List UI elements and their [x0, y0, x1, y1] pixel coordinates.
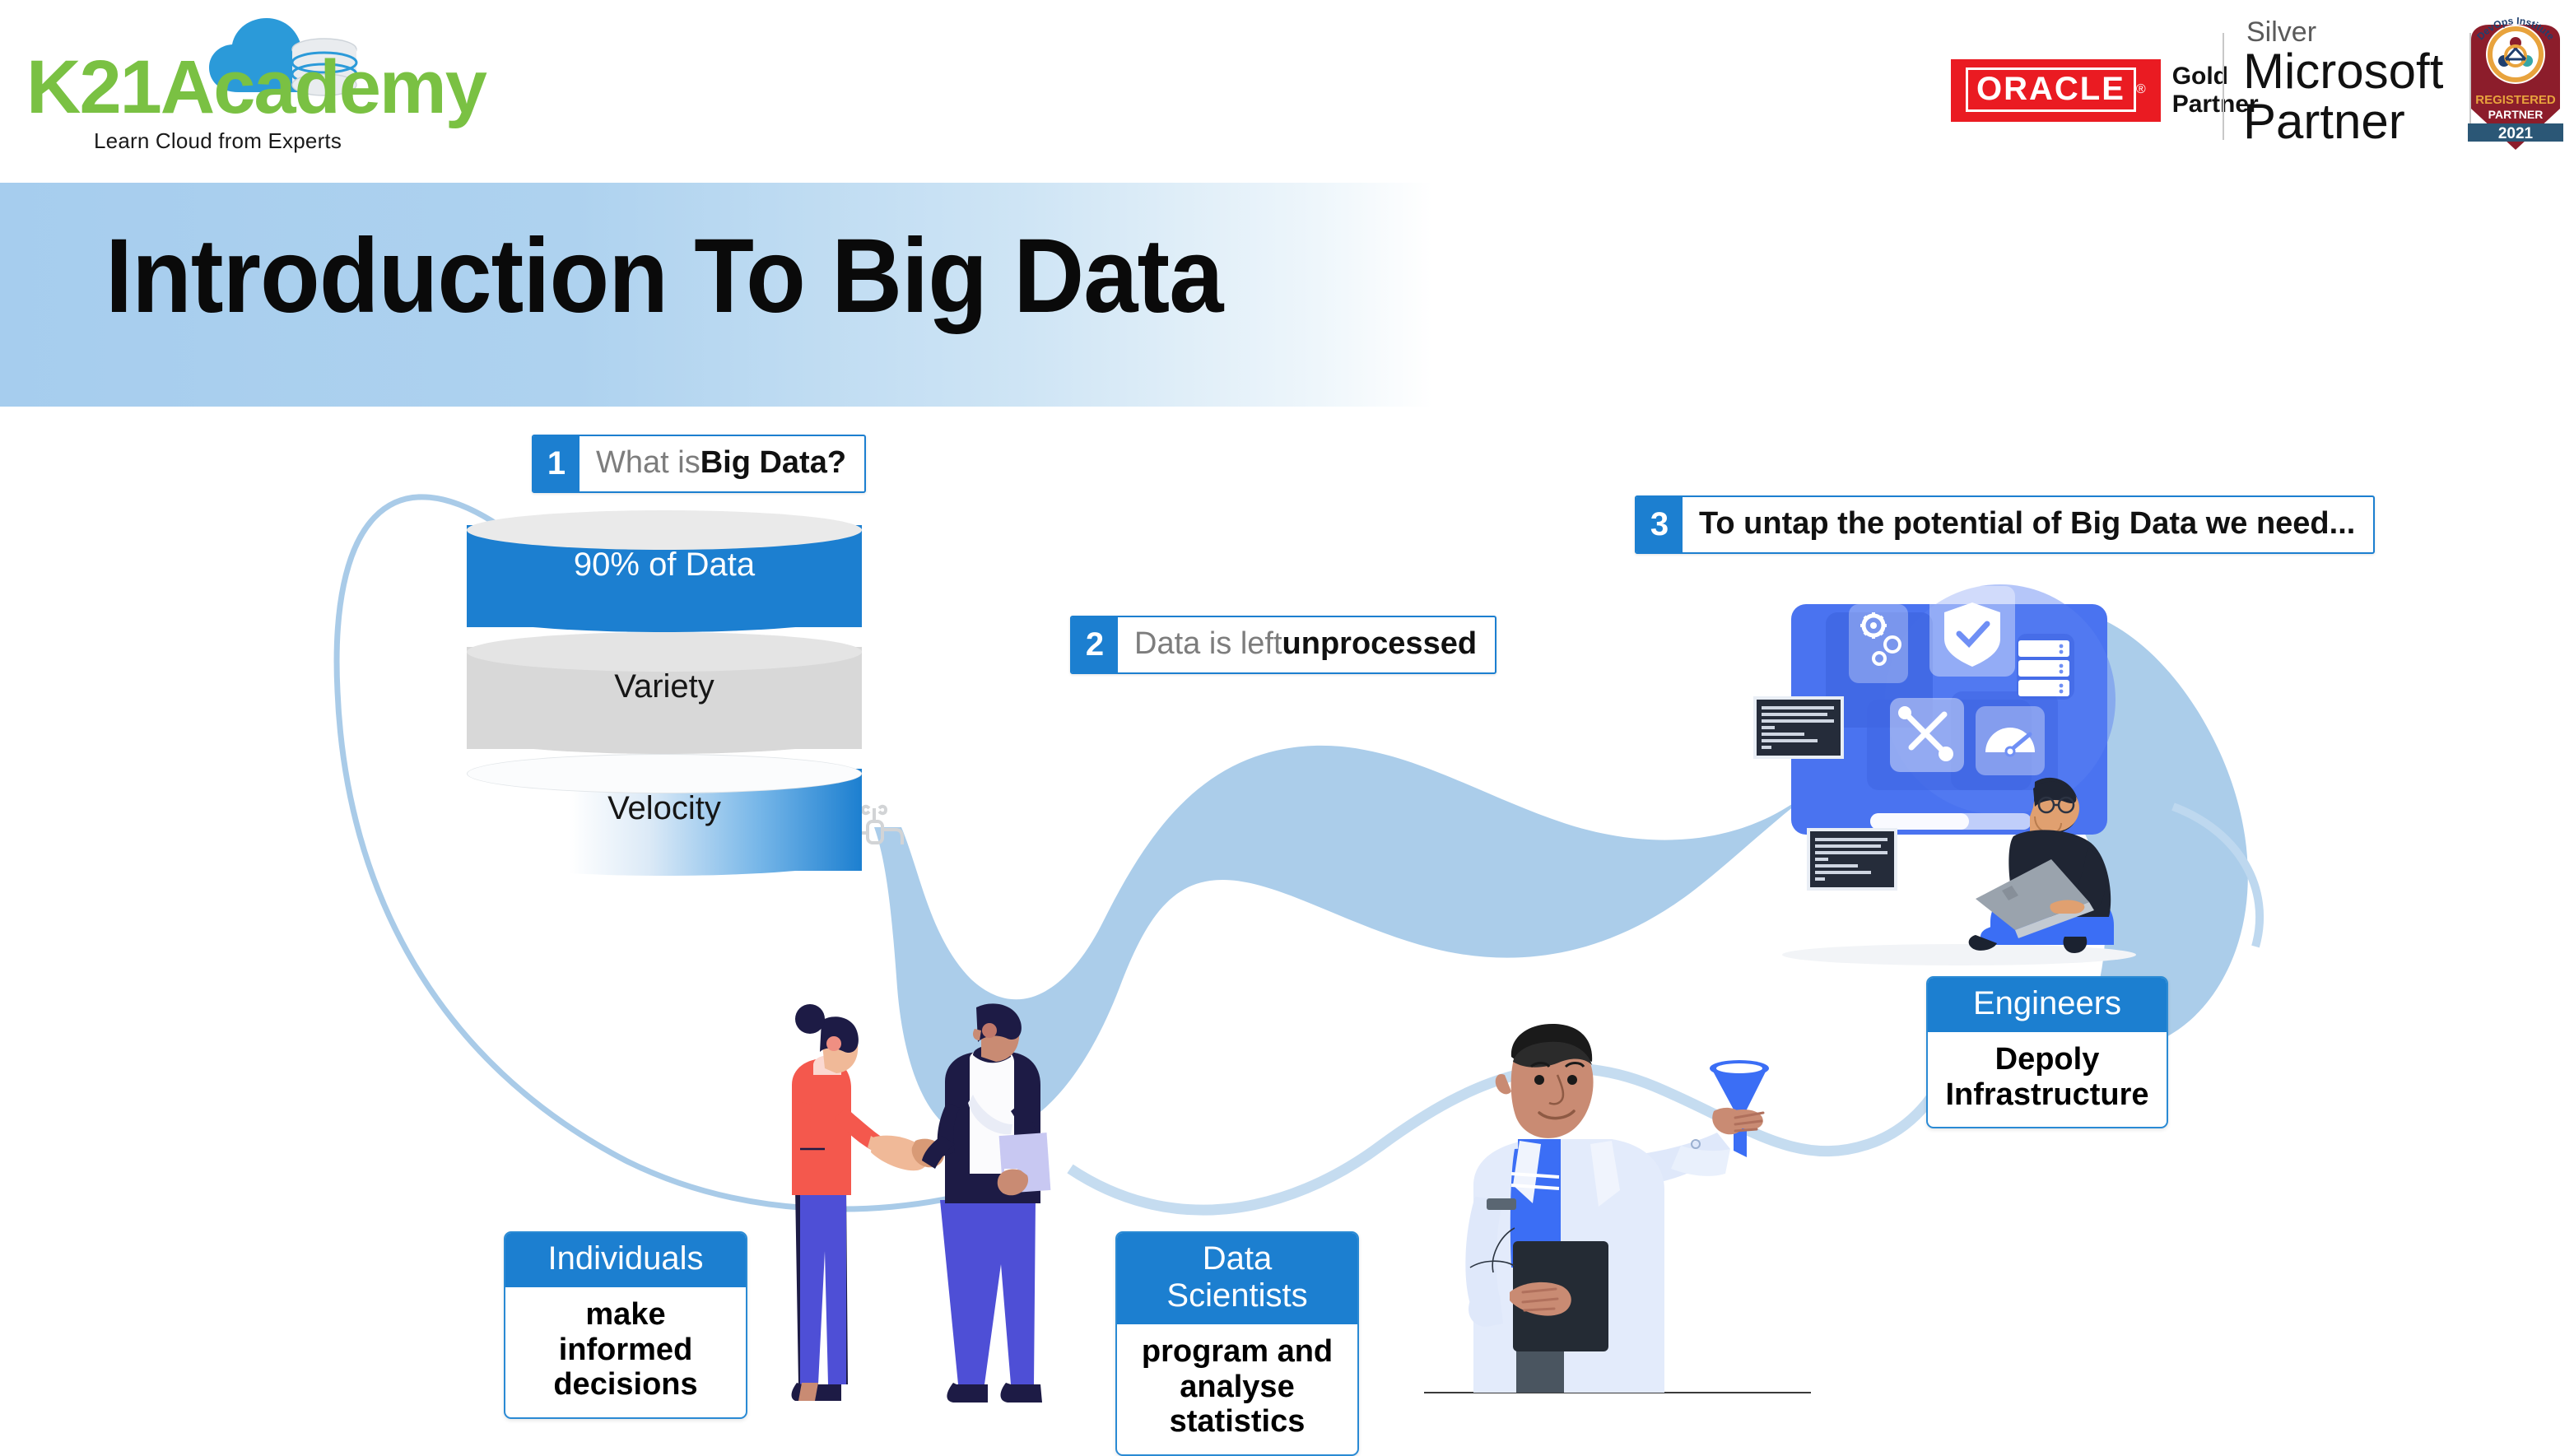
card-body-individuals-line1: make informed [520, 1297, 731, 1367]
card-title-individuals: Individuals [505, 1233, 746, 1287]
microsoft-silver-partner-logo: Silver Microsoft Partner [2243, 18, 2443, 147]
step-text-3: To untap the potential of Big Data we ne… [1683, 497, 2373, 552]
step-label-2[interactable]: 2 Data is left unprocessed [1070, 616, 1496, 674]
badge-registered-text: REGISTERED [2475, 93, 2556, 107]
step-text-2: Data is left unprocessed [1118, 617, 1495, 672]
man-character [922, 1003, 1050, 1403]
step-label-3[interactable]: 3 To untap the potential of Big Data we … [1635, 495, 2375, 554]
card-body-engineers: Depoly Infrastructure [1928, 1032, 2167, 1127]
wrench-screwdriver-icon [1890, 698, 1964, 772]
data-scientist-illustration [1424, 1021, 1811, 1434]
cylinder-label-velocity: Velocity [467, 790, 862, 827]
devops-tech-illustration [1729, 576, 2190, 988]
server-rack-icon [2018, 640, 2069, 696]
step-text-1-grey: What is [596, 445, 701, 481]
logo-text-k21: K21 [26, 45, 161, 129]
step-text-1: What is Big Data? [579, 436, 864, 491]
faucet-icon [858, 797, 915, 863]
speedometer-icon [1976, 706, 2045, 775]
logo-text-academy: Academy [161, 45, 486, 129]
oracle-wordmark: ORACLE [1966, 67, 2136, 112]
cylinder-band-velocity: Velocity [467, 754, 862, 886]
cylinder-band-variety: Variety [467, 632, 862, 764]
step-number-3: 3 [1636, 497, 1683, 552]
brand-logo[interactable]: K21Academy Learn Cloud from Experts [18, 12, 372, 156]
cylinder-label-variety: Variety [467, 668, 862, 705]
microsoft-name: Microsoft [2243, 46, 2443, 96]
oracle-red-plate: ORACLE® [1951, 59, 2161, 122]
role-card-individuals[interactable]: Individuals make informed decisions [504, 1231, 747, 1419]
step-text-1-bold: Big Data? [701, 445, 846, 481]
devops-institute-badge-icon: REGISTERED PARTNER 2021 DevOps Institute [2463, 12, 2568, 153]
step-text-2-grey: Data is left [1134, 626, 1282, 662]
volume-top-ellipse [467, 510, 862, 550]
terminal-window-icon [1753, 696, 1844, 759]
woman-character [792, 1004, 897, 1401]
card-body-engineers-line1: Depoly [1943, 1042, 2152, 1077]
logo-wordmark: K21Academy [26, 49, 486, 125]
oracle-registered-mark: ® [2136, 82, 2146, 97]
badge-partner-text: PARTNER [2488, 108, 2544, 121]
role-card-data-scientists[interactable]: Data Scientists program and analyse stat… [1115, 1231, 1359, 1456]
card-body-individuals: make informed decisions [505, 1287, 746, 1417]
card-title-scientists: Data Scientists [1117, 1233, 1357, 1324]
step-text-2-bold: unprocessed [1282, 626, 1478, 662]
shield-check-icon [1929, 586, 2015, 677]
badge-year-text: 2021 [2498, 125, 2534, 142]
cylinder-band-volume: 90% of Data [467, 510, 862, 642]
page-title: Introduction To Big Data [105, 224, 1223, 329]
step-label-1[interactable]: 1 What is Big Data? [532, 435, 866, 493]
big-data-cylinder: Velocity Variety 90% of Data [467, 510, 862, 922]
card-body-individuals-line2: decisions [520, 1367, 731, 1403]
microsoft-partner-word: Partner [2243, 96, 2443, 147]
card-body-scientists-line1: program and [1132, 1334, 1343, 1370]
terminal-window-icon [1807, 828, 1897, 891]
step-number-1: 1 [533, 436, 579, 491]
card-body-scientists: program and analyse statistics [1117, 1324, 1357, 1454]
gears-icon [1849, 604, 1908, 683]
microsoft-tier: Silver [2246, 18, 2443, 46]
card-body-engineers-line2: Infrastructure [1943, 1077, 2152, 1113]
step-number-2: 2 [1072, 617, 1118, 672]
card-body-scientists-line2: analyse statistics [1132, 1370, 1343, 1440]
step-text-3-bold: To untap the potential of Big Data we ne… [1699, 506, 2355, 542]
oracle-gold-partner-logo: ORACLE® Gold Partner [1951, 59, 2259, 122]
logo-tagline: Learn Cloud from Experts [94, 128, 342, 154]
role-card-engineers[interactable]: Engineers Depoly Infrastructure [1926, 976, 2168, 1128]
handshake-illustration [749, 979, 1078, 1434]
cylinder-label-volume: 90% of Data [467, 547, 862, 584]
header-divider-1 [2223, 33, 2224, 140]
card-title-engineers: Engineers [1928, 978, 2167, 1032]
page-header: K21Academy Learn Cloud from Experts ORAC… [0, 0, 2574, 169]
